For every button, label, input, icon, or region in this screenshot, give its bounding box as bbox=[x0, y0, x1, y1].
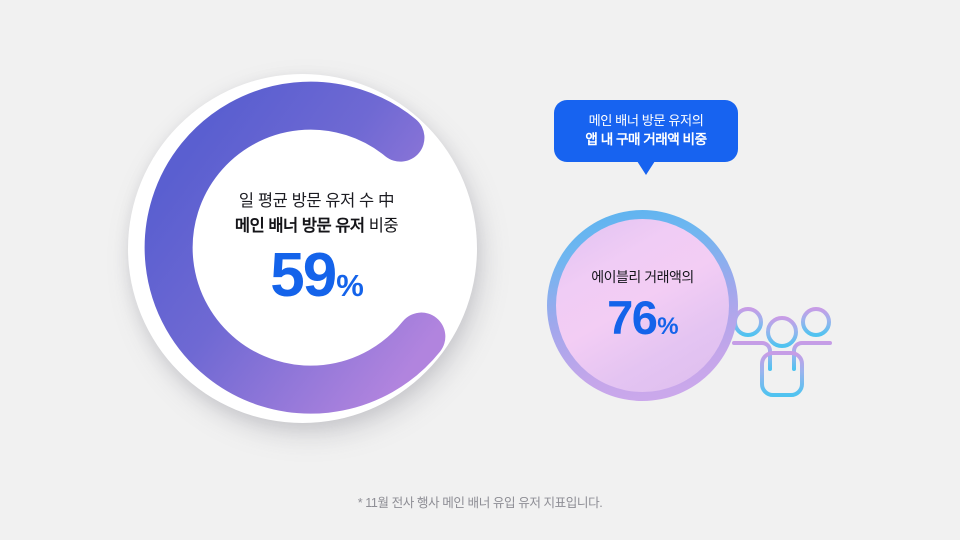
gmv-tooltip-line1: 메인 배너 방문 유저의 bbox=[564, 111, 728, 130]
people-group-icon bbox=[730, 295, 834, 400]
gmv-share-panel: 메인 배너 방문 유저의 앱 내 구매 거래액 비중 bbox=[540, 90, 860, 420]
donut-center-label: 일 평균 방문 유저 수 中 메인 배너 방문 유저 비중 59 % bbox=[128, 74, 477, 423]
gmv-tooltip-tail-icon bbox=[637, 161, 655, 175]
footnote: * 11월 전사 행사 메인 배너 유입 유저 지표입니다. bbox=[0, 492, 960, 511]
donut-value-unit: % bbox=[336, 270, 363, 301]
donut-caption-strong: 메인 배너 방문 유저 bbox=[235, 217, 365, 235]
gmv-circle: 에이블리 거래액의 76 % bbox=[547, 210, 738, 401]
gmv-tooltip: 메인 배너 방문 유저의 앱 내 구매 거래액 비중 bbox=[554, 100, 738, 162]
gmv-value-number: 76 bbox=[607, 294, 656, 341]
donut-caption-line1: 일 평균 방문 유저 수 中 bbox=[239, 190, 394, 212]
donut-caption-line2: 메인 배너 방문 유저 비중 bbox=[235, 215, 398, 237]
gmv-caption: 에이블리 거래액의 bbox=[591, 267, 693, 287]
daily-visitor-donut: 일 평균 방문 유저 수 中 메인 배너 방문 유저 비중 59 % bbox=[128, 74, 477, 423]
gmv-tooltip-line2: 앱 내 구매 거래액 비중 bbox=[564, 130, 728, 150]
gmv-value: 76 % bbox=[607, 294, 678, 341]
gmv-circle-label: 에이블리 거래액의 76 % bbox=[547, 210, 738, 401]
donut-caption-rest: 비중 bbox=[365, 217, 398, 235]
slide-canvas: 일 평균 방문 유저 수 中 메인 배너 방문 유저 비중 59 % 메인 배너… bbox=[0, 0, 960, 540]
donut-value-number: 59 bbox=[270, 245, 335, 307]
gmv-value-unit: % bbox=[657, 315, 678, 339]
donut-value: 59 % bbox=[270, 245, 363, 307]
